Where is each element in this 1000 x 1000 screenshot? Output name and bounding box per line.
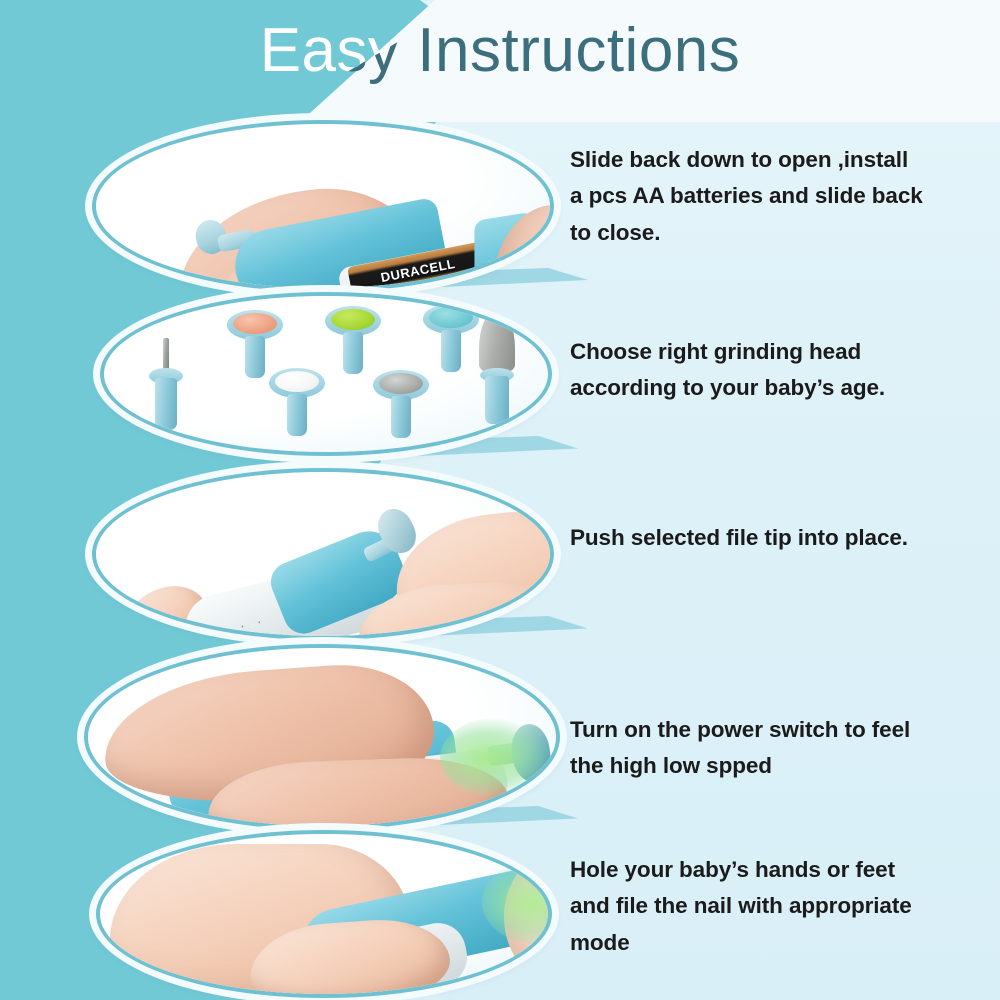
step-4-text: Turn on the power switch to feel the hig…	[570, 712, 925, 785]
step-4-image	[84, 644, 560, 830]
page-title: Easy Instructions Easy Instructions	[0, 8, 1000, 94]
step-5-photo: · · ·	[100, 834, 548, 994]
cone-stem	[485, 376, 509, 424]
teal-face	[429, 307, 473, 328]
green-stem	[343, 332, 363, 374]
step-2-line-2: according to your baby’s age.	[570, 370, 925, 406]
green-face	[331, 309, 375, 330]
step-2-text: Choose right grinding head according to …	[570, 334, 925, 407]
step-1-text: Slide back down to open ,install a pcs A…	[570, 142, 925, 251]
step-5-line-2: and file the nail with appropriate	[570, 888, 925, 924]
step-4-line-2: the high low spped	[570, 748, 925, 784]
pin-stem	[155, 378, 177, 430]
step-4-line-1: Turn on the power switch to feel	[570, 712, 925, 748]
cone-abrasive	[479, 310, 515, 372]
step-2-photo	[104, 296, 548, 452]
step-1-image: DURACELL DURACELL	[92, 120, 554, 292]
step-5-line-3: mode	[570, 925, 925, 961]
grey-cone-head	[472, 310, 522, 428]
white-face	[275, 371, 319, 392]
instruction-poster: Easy Instructions Easy Instructions DURA…	[0, 0, 1000, 1000]
pixelated-region	[274, 824, 360, 826]
metal-pin-head	[144, 338, 188, 434]
teal-stem	[441, 330, 461, 372]
step-1-photo: DURACELL DURACELL	[96, 124, 550, 288]
grey-stem	[391, 396, 411, 438]
step-1-line-1: Slide back down to open ,install	[570, 142, 925, 178]
step-3-line-1: Push selected file tip into place.	[570, 520, 925, 556]
step-2-image	[100, 292, 552, 456]
step-2-line-1: Choose right grinding head	[570, 334, 925, 370]
step-5-text: Hole your baby’s hands or feet and file …	[570, 852, 925, 961]
white-stem	[287, 394, 307, 436]
step-1-line-3: to close.	[570, 215, 925, 251]
pin-shaft	[163, 338, 169, 372]
step-3-image: · · ·	[92, 468, 554, 640]
power-glow	[440, 718, 550, 798]
step-3-text: Push selected file tip into place.	[570, 520, 925, 556]
step-5-line-1: Hole your baby’s hands or feet	[570, 852, 925, 888]
pink-face	[233, 313, 277, 334]
step-1-line-2: a pcs AA batteries and slide back	[570, 178, 925, 214]
step-3-photo: · · ·	[96, 472, 550, 636]
step-4-photo	[88, 648, 556, 826]
step-5-image: · · ·	[96, 830, 552, 998]
